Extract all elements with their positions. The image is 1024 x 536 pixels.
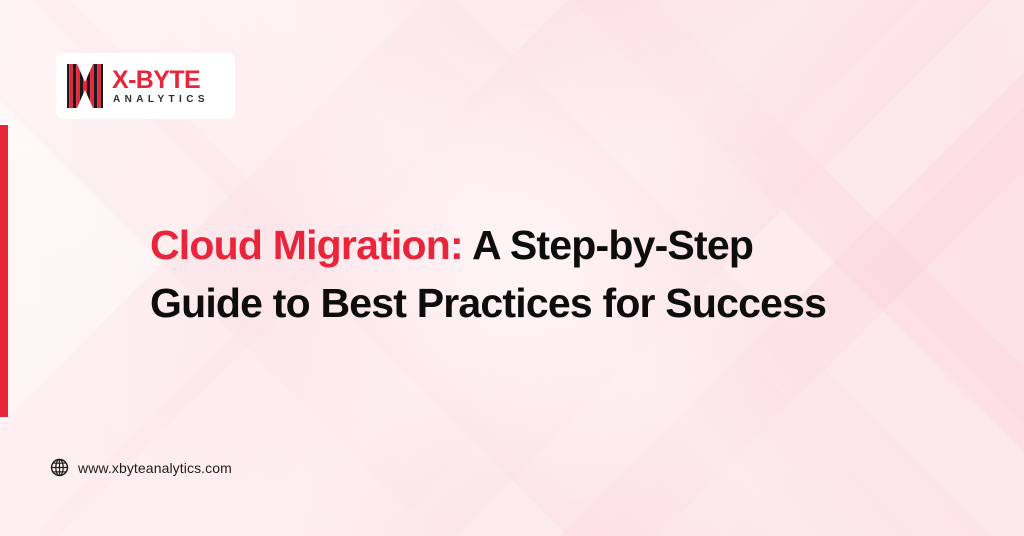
- headline-accent-text: Cloud Migration: [150, 222, 450, 268]
- brand-logo-card: X-BYTE ANALYTICS: [56, 53, 235, 119]
- headline-line-1-rest: A Step-by-Step: [463, 222, 753, 268]
- xbyte-hourglass-x-icon: [65, 63, 105, 109]
- brand-tagline: ANALYTICS: [112, 93, 209, 106]
- website-url-text: www.xbyteanalytics.com: [78, 460, 232, 476]
- left-accent-bar: [0, 125, 8, 417]
- brand-wordmark: X-BYTE ANALYTICS: [112, 66, 209, 106]
- headline-colon: :: [450, 222, 463, 268]
- headline-block: Cloud Migration: A Step-by-Step Guide to…: [150, 216, 940, 332]
- headline-line-1: Cloud Migration: A Step-by-Step: [150, 216, 940, 274]
- banner-canvas: X-BYTE ANALYTICS Cloud Migration: A Step…: [0, 0, 1024, 536]
- headline-line-2: Guide to Best Practices for Success: [150, 274, 940, 332]
- footer-website: www.xbyteanalytics.com: [50, 458, 232, 477]
- brand-name: X-BYTE: [112, 67, 209, 93]
- globe-icon: [50, 458, 69, 477]
